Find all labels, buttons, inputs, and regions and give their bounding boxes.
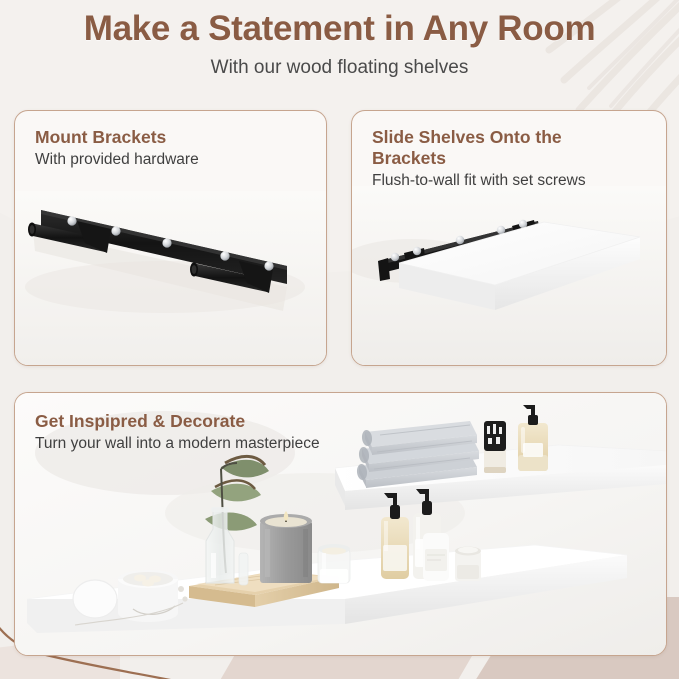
card-mount-title: Mount Brackets — [35, 127, 303, 148]
card-inspire-subtitle: Turn your wall into a modern masterpiece — [35, 434, 335, 454]
card-slide-shelves: Slide Shelves Onto the Brackets Flush-to… — [351, 110, 667, 366]
card-slide-text-block: Slide Shelves Onto the Brackets Flush-to… — [372, 127, 638, 191]
card-slide-title: Slide Shelves Onto the Brackets — [372, 127, 638, 169]
dark-patterned-tube — [484, 421, 506, 473]
card-get-inspired: Get Inspipred & Decorate Turn your wall … — [14, 392, 667, 656]
gray-concrete-candle — [260, 511, 312, 583]
product-infographic: Make a Statement in Any Room With our wo… — [0, 0, 679, 679]
page-title: Make a Statement in Any Room — [0, 8, 679, 50]
card-mount-brackets: Mount Brackets With provided hardware — [14, 110, 327, 366]
page-subtitle: With our wood floating shelves — [0, 56, 679, 80]
card-slide-subtitle: Flush-to-wall fit with set screws — [372, 171, 638, 191]
card-inspire-title: Get Inspipred & Decorate — [35, 411, 335, 432]
card-mount-text-block: Mount Brackets With provided hardware — [35, 127, 303, 170]
header: Make a Statement in Any Room With our wo… — [0, 8, 679, 80]
card-inspire-text-block: Get Inspipred & Decorate Turn your wall … — [35, 411, 335, 454]
small-glass-jar — [318, 544, 350, 583]
card-mount-subtitle: With provided hardware — [35, 150, 303, 170]
